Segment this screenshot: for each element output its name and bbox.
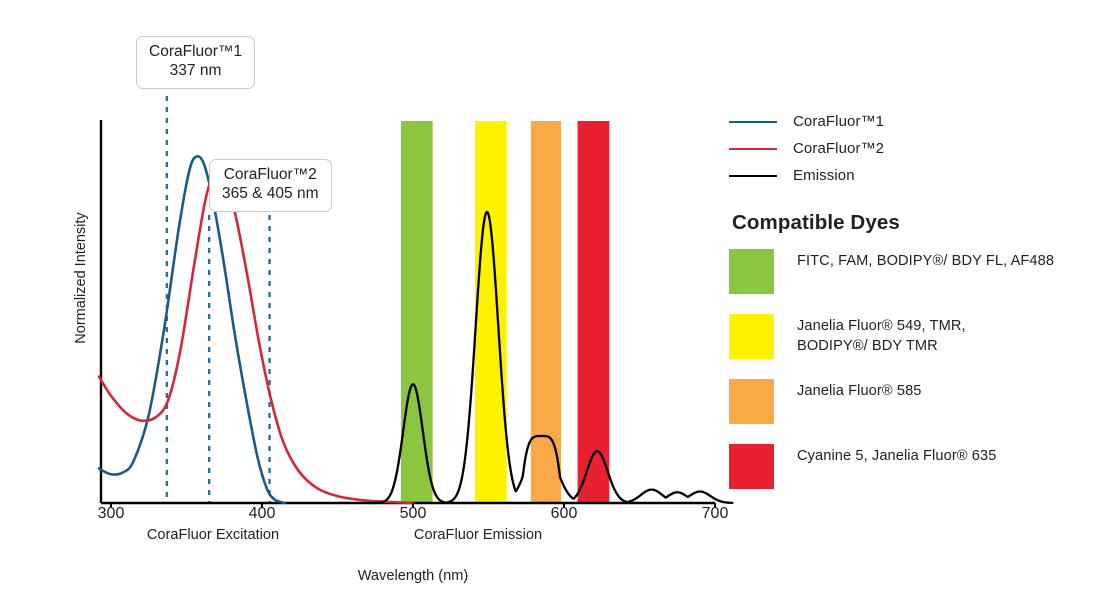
dye-item-label: FITC, FAM, BODIPY®/ BDY FL, AF488 (797, 249, 1054, 272)
corafluor2-callout: CoraFluor™2 365 & 405 nm (209, 159, 332, 212)
legend-line-swatch (729, 148, 777, 150)
callout-line-2: 365 & 405 nm (222, 185, 319, 204)
dye-item-label: Janelia Fluor® 585 (797, 379, 922, 402)
dye-label-line-2: BODIPY®/ BDY TMR (797, 338, 938, 354)
region-label-excitation: CoraFluor Excitation (93, 527, 333, 543)
x-tick-label-600: 600 (534, 505, 594, 523)
dye-color-swatch (729, 444, 774, 489)
dye-item: Janelia Fluor® 585 (729, 379, 1099, 424)
legend-item: Emission (729, 162, 1099, 189)
legend-item-label: CoraFluor™1 (793, 113, 884, 130)
callout-line-2: 337 nm (149, 62, 242, 81)
legend-line-swatch (729, 121, 777, 123)
dye-item-label: Cyanine 5, Janelia Fluor® 635 (797, 444, 996, 467)
dye-label-line-1: Cyanine 5, Janelia Fluor® 635 (797, 448, 996, 464)
legend-series-list: CoraFluor™1CoraFluor™2Emission (729, 108, 1099, 189)
dye-item: Janelia Fluor® 549, TMR,BODIPY®/ BDY TMR (729, 314, 1099, 359)
legend-panel: CoraFluor™1CoraFluor™2Emission Compatibl… (729, 108, 1099, 509)
compatible-dyes-list: FITC, FAM, BODIPY®/ BDY FL, AF488Janelia… (729, 249, 1099, 489)
legend-item-label: Emission (793, 167, 855, 184)
region-label-emission: CoraFluor Emission (358, 527, 598, 543)
dye-color-swatch (729, 314, 774, 359)
red-band (578, 121, 610, 503)
y-axis-label: Normalized Intensity (73, 183, 89, 373)
legend-line-swatch (729, 175, 777, 177)
legend-item-label: CoraFluor™2 (793, 140, 884, 157)
dye-color-swatch (729, 249, 774, 294)
orange-band (531, 121, 561, 503)
x-tick-label-300: 300 (81, 505, 141, 523)
dye-item: Cyanine 5, Janelia Fluor® 635 (729, 444, 1099, 489)
corafluor1-callout: CoraFluor™1 337 nm (136, 36, 255, 89)
dye-label-line-1: Janelia Fluor® 585 (797, 383, 922, 399)
x-tick-label-500: 500 (383, 505, 443, 523)
x-axis-title: Wavelength (nm) (263, 568, 563, 584)
callout-line-1: CoraFluor™2 (222, 166, 319, 185)
callout-line-1: CoraFluor™1 (149, 43, 242, 62)
dye-color-swatch (729, 379, 774, 424)
compatible-dyes-title: Compatible Dyes (732, 211, 1099, 235)
yellow-band (475, 121, 507, 503)
dye-label-line-1: Janelia Fluor® 549, TMR, (797, 318, 966, 334)
dye-item: FITC, FAM, BODIPY®/ BDY FL, AF488 (729, 249, 1099, 294)
green-band (401, 121, 433, 503)
dye-label-line-1: FITC, FAM, BODIPY®/ BDY FL, AF488 (797, 253, 1054, 269)
x-tick-label-400: 400 (232, 505, 292, 523)
legend-item: CoraFluor™1 (729, 108, 1099, 135)
legend-item: CoraFluor™2 (729, 135, 1099, 162)
dye-item-label: Janelia Fluor® 549, TMR,BODIPY®/ BDY TMR (797, 314, 966, 356)
fluorescence-spectra-figure: CoraFluor™1 337 nm CoraFluor™2 365 & 405… (0, 0, 1110, 612)
